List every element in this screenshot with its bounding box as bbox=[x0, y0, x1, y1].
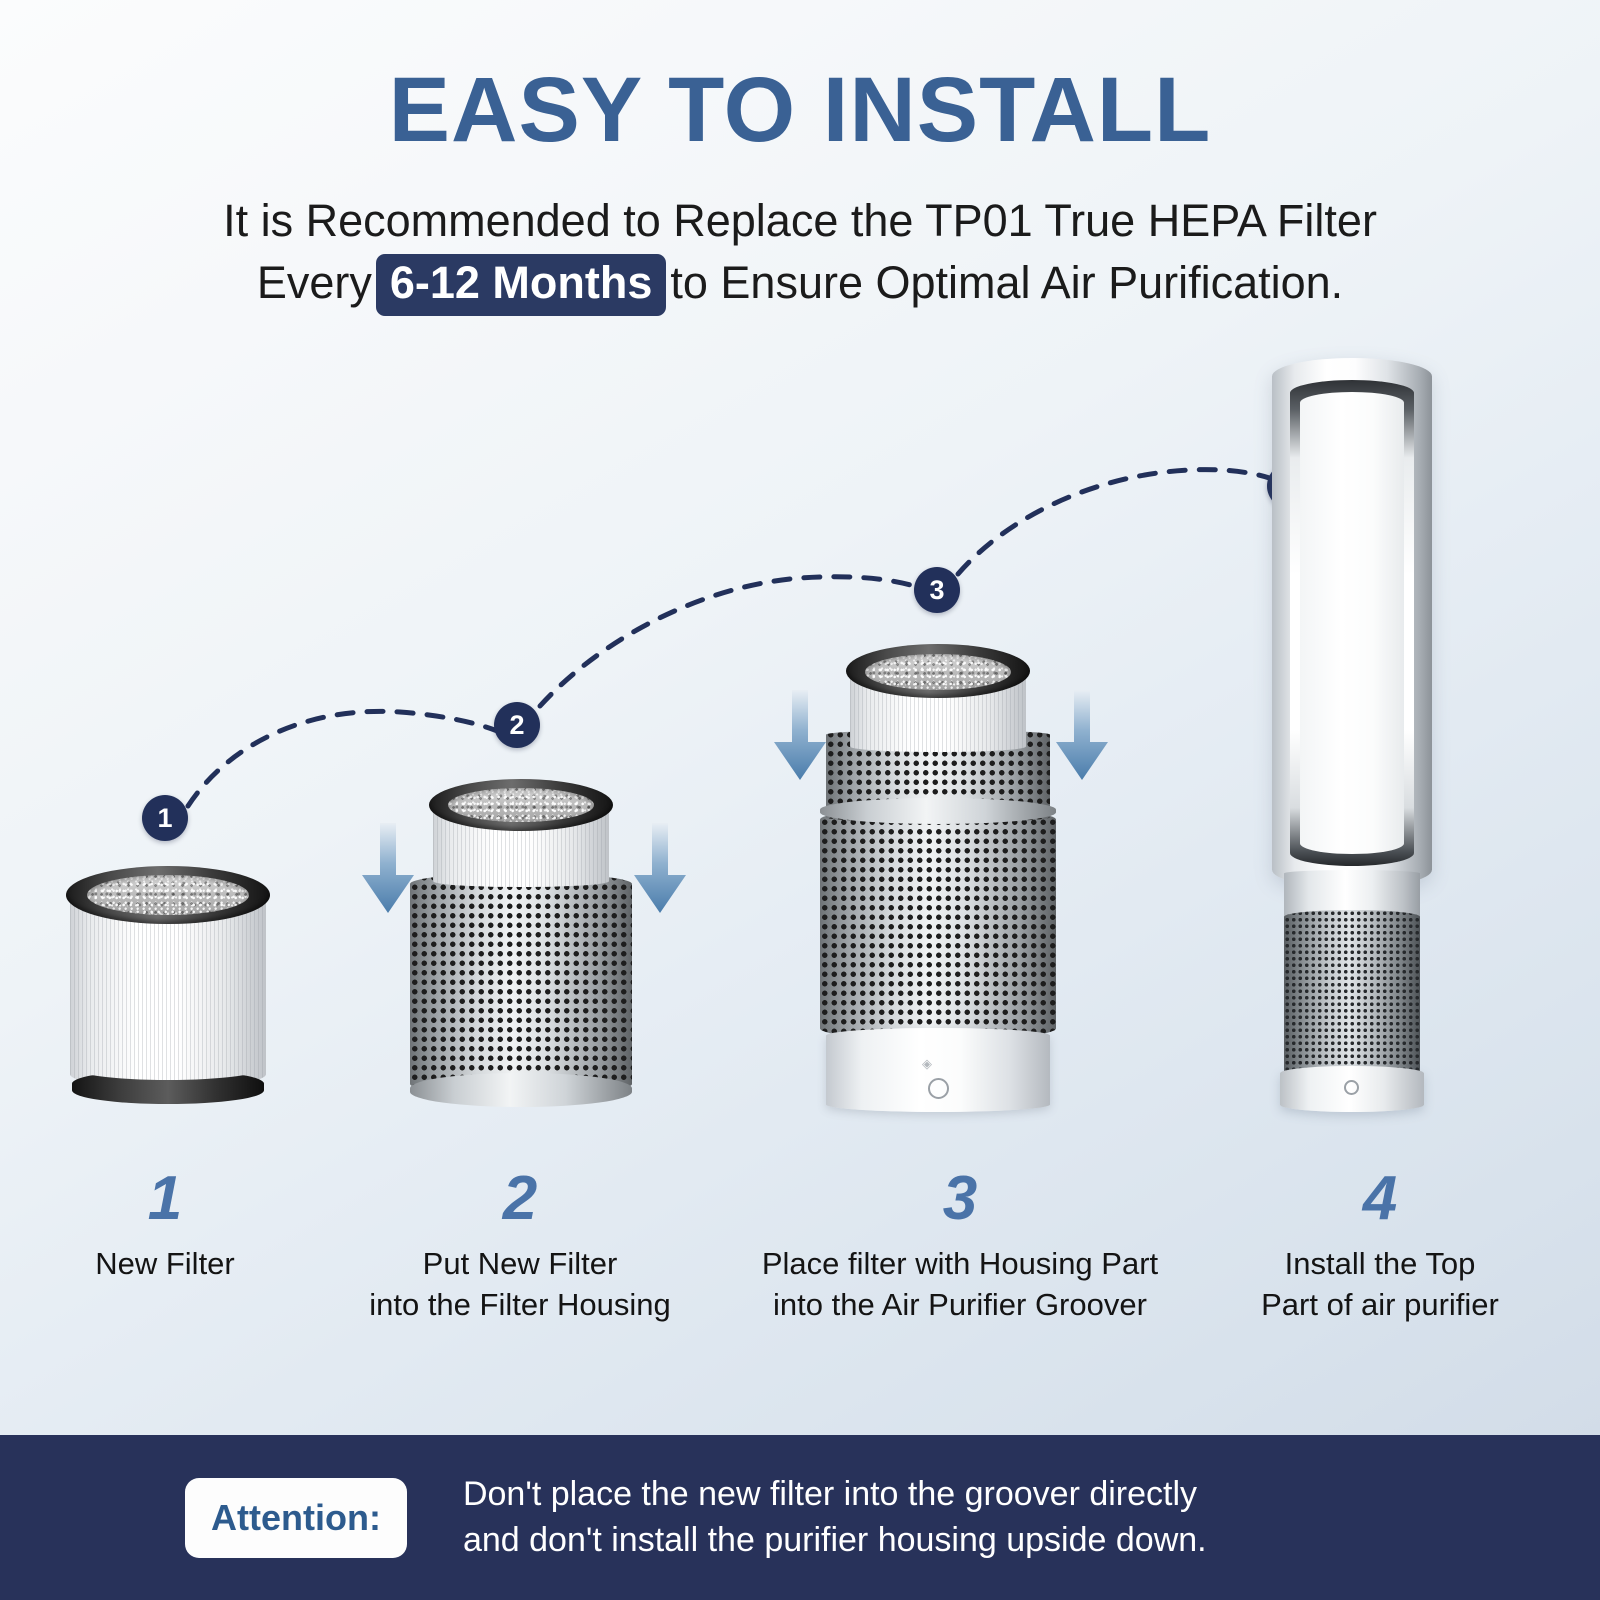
step-caption-text-2: Put New Filter into the Filter Housing bbox=[330, 1244, 710, 1326]
insert-arrow-left-icon bbox=[360, 823, 416, 915]
insert-arrow-right-icon bbox=[632, 823, 688, 915]
installation-diagram: 1 2 3 4 bbox=[0, 0, 1600, 1600]
power-button[interactable] bbox=[928, 1078, 949, 1099]
tower-filter-mesh bbox=[1284, 910, 1420, 1080]
step-number-3: 3 bbox=[720, 1168, 1200, 1230]
purifier-mesh-lower bbox=[820, 808, 1056, 1040]
attention-footer: Attention: Don't place the new filter in… bbox=[0, 1435, 1600, 1600]
filter-carbon-surface bbox=[865, 654, 1011, 690]
step-marker-3: 3 bbox=[914, 567, 960, 613]
step-caption-text-4: Install the Top Part of air purifier bbox=[1190, 1244, 1570, 1326]
step-number-1: 1 bbox=[20, 1168, 310, 1230]
step-marker-1: 1 bbox=[142, 795, 188, 841]
housing-mesh-cylinder bbox=[410, 873, 632, 1095]
insert-arrow-left-icon bbox=[772, 690, 828, 782]
attention-label: Attention: bbox=[185, 1478, 407, 1558]
attention-message: Don't place the new filter into the groo… bbox=[463, 1472, 1207, 1564]
product-step-3-assembly-in-purifier: ◈ bbox=[770, 638, 1110, 1116]
step-caption-4: 4 Install the Top Part of air purifier bbox=[1190, 1168, 1570, 1326]
infographic-root: EASY TO INSTALL It is Recommended to Rep… bbox=[0, 0, 1600, 1600]
filter-carbon-surface bbox=[87, 875, 249, 915]
step-caption-3: 3 Place filter with Housing Part into th… bbox=[720, 1168, 1200, 1326]
product-step-1-new-filter bbox=[60, 862, 275, 1110]
product-step-2-filter-in-housing bbox=[360, 775, 690, 1115]
tower-loop-aperture bbox=[1300, 392, 1404, 854]
purifier-display-icon: ◈ bbox=[922, 1056, 933, 1072]
purifier-base bbox=[826, 1028, 1050, 1112]
step-caption-text-3: Place filter with Housing Part into the … bbox=[720, 1244, 1200, 1326]
step-caption-text-1: New Filter bbox=[20, 1244, 310, 1285]
step-number-4: 4 bbox=[1190, 1168, 1570, 1230]
filter-carbon-surface bbox=[448, 788, 594, 822]
step-caption-1: 1 New Filter bbox=[20, 1168, 310, 1285]
insert-arrow-right-icon bbox=[1054, 690, 1110, 782]
connector-3-to-4 bbox=[958, 470, 1280, 574]
product-step-4-tower-purifier bbox=[1262, 358, 1442, 1118]
step-caption-2: 2 Put New Filter into the Filter Housing bbox=[330, 1168, 710, 1326]
power-button[interactable] bbox=[1344, 1080, 1359, 1095]
purifier-mesh-divider bbox=[820, 798, 1056, 824]
step-marker-2: 2 bbox=[494, 702, 540, 748]
housing-bottom-cap bbox=[410, 1073, 632, 1107]
step-number-2: 2 bbox=[330, 1168, 710, 1230]
